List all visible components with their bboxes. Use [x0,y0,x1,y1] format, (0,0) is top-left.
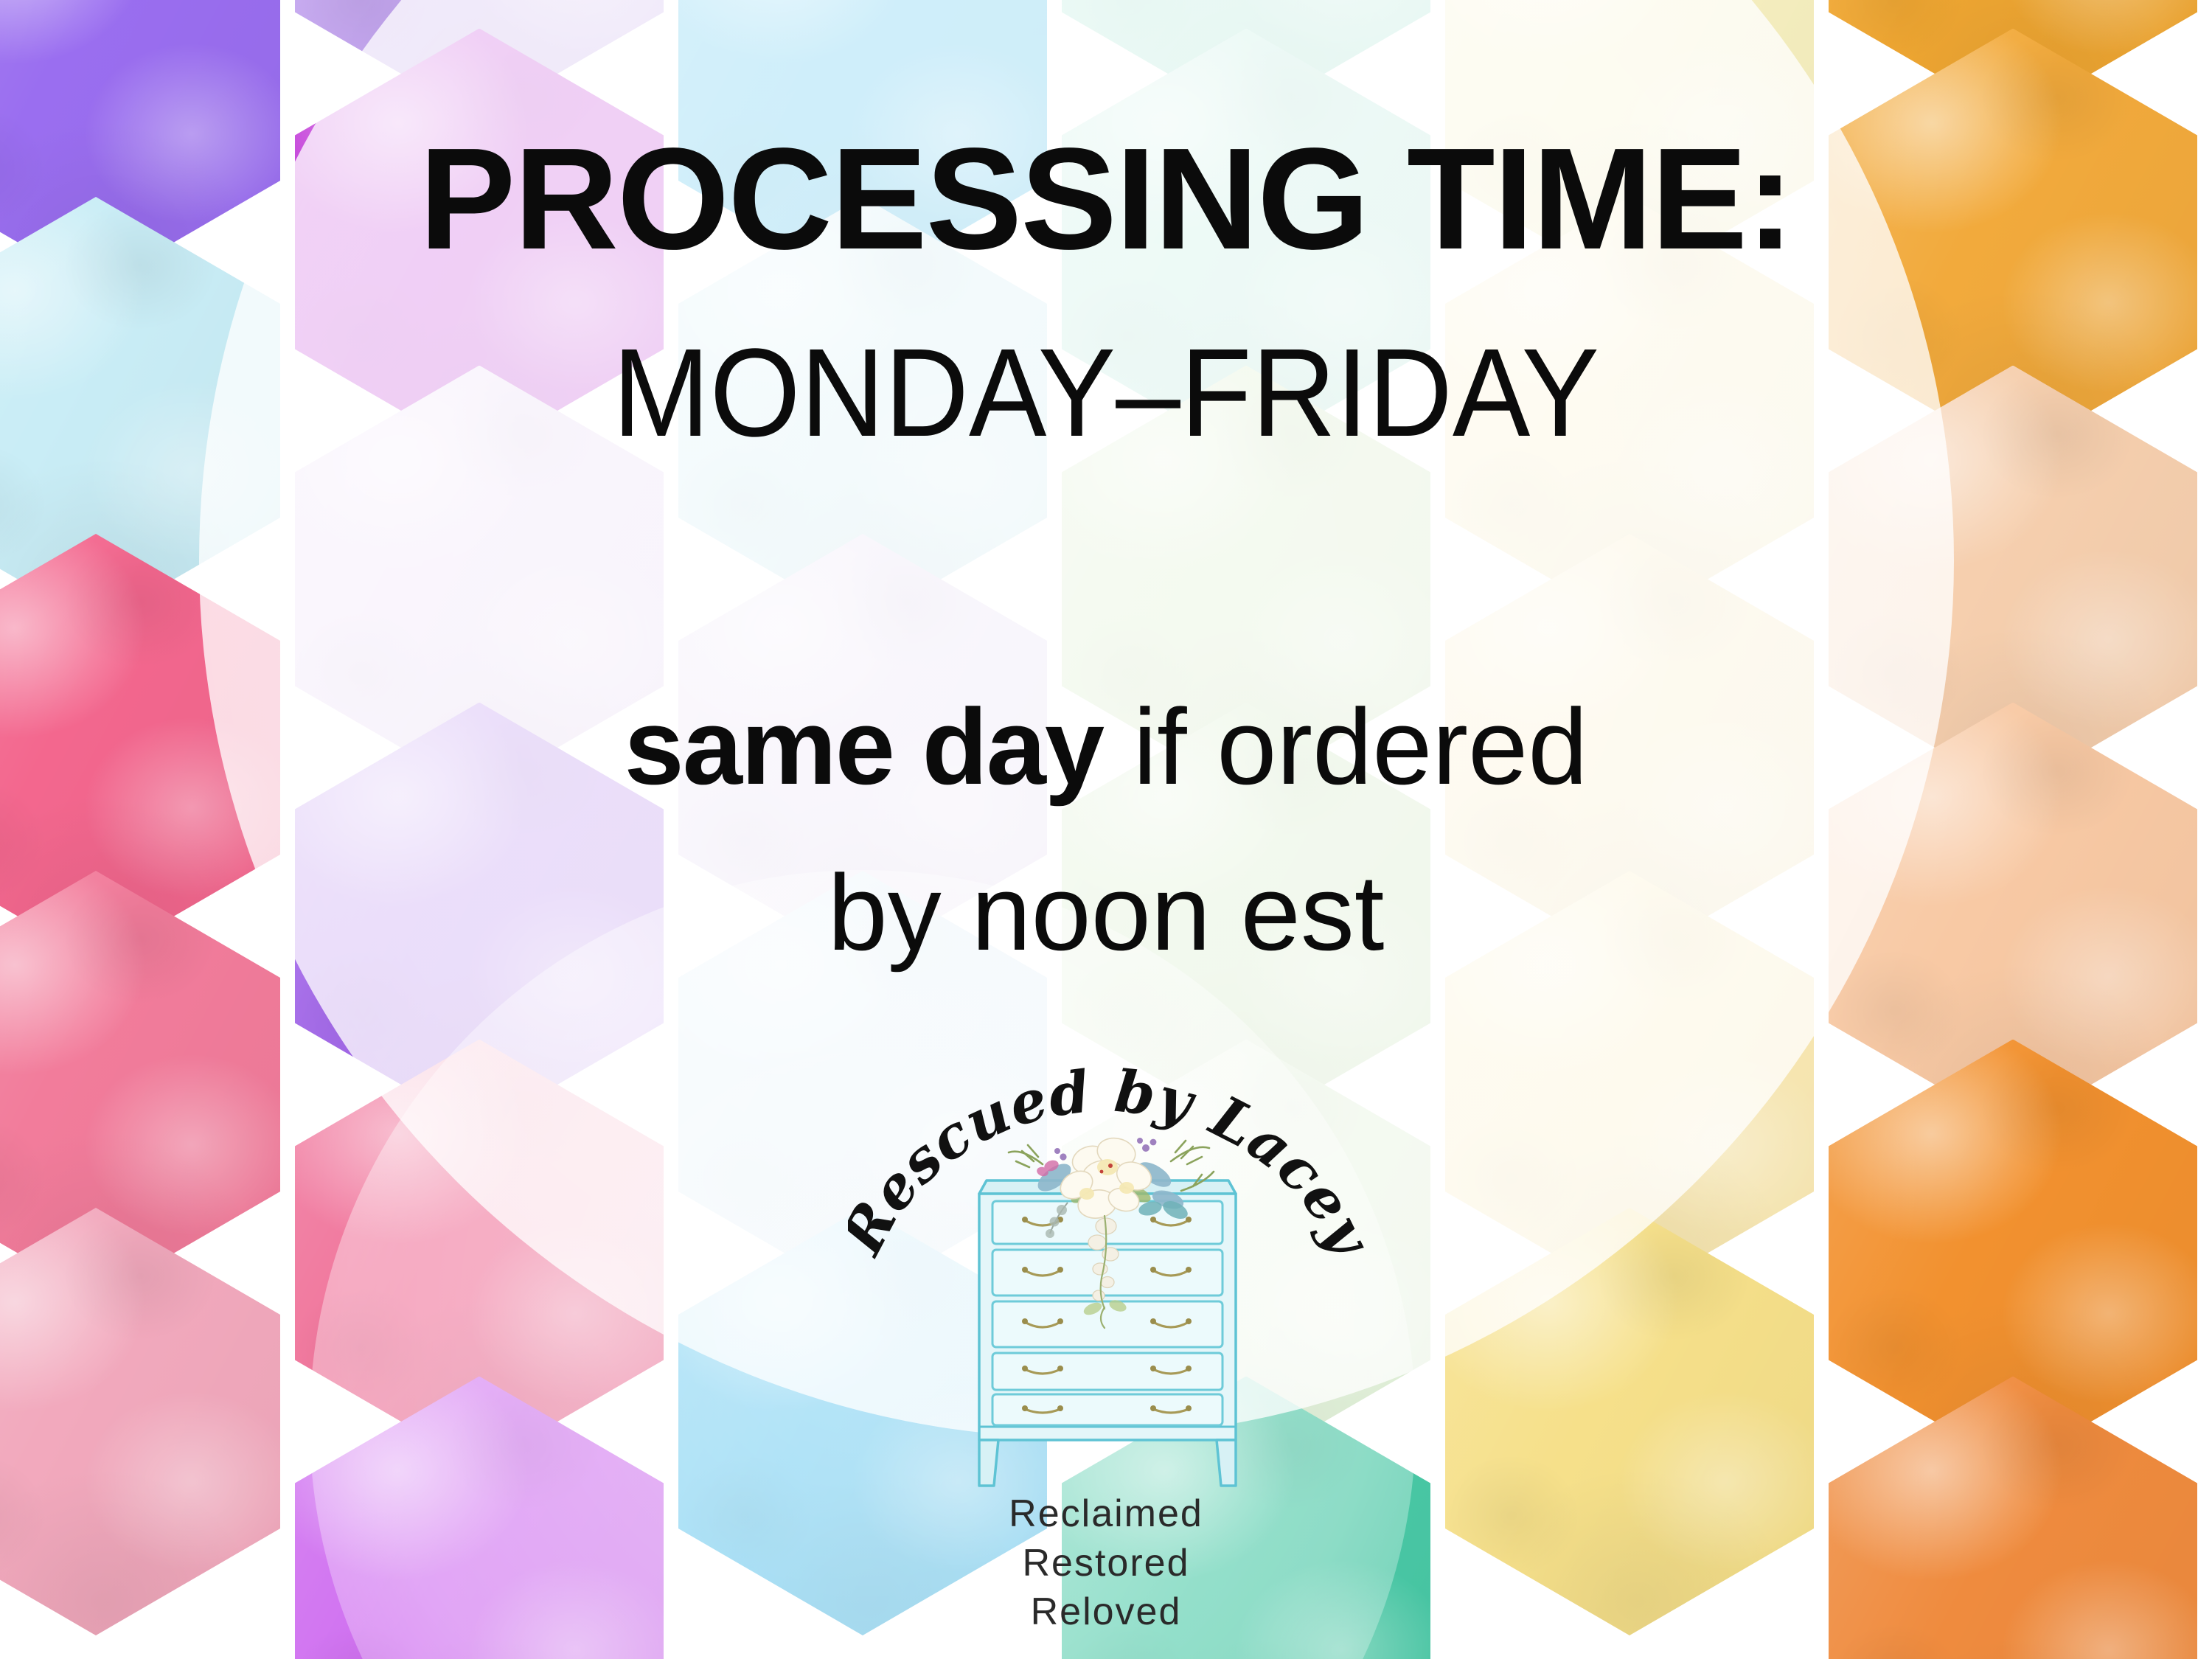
dresser-illustration [960,1123,1255,1499]
brand-logo: Rescued by Lacey [848,1029,1364,1618]
tagline-line-2: Restored [848,1539,1364,1588]
tagline-line-1: Reclaimed [848,1489,1364,1539]
tagline-line-3: Reloved [848,1587,1364,1637]
subtitle-days: MONDAY–FRIDAY [77,330,2135,456]
cutoff-time-line: by noon est [0,859,2212,967]
poster-canvas: PROCESSING TIME: MONDAY–FRIDAY same day … [0,0,2212,1659]
brand-tagline: Reclaimed Restored Reloved [848,1489,1364,1637]
poster-content: PROCESSING TIME: MONDAY–FRIDAY same day … [0,0,2212,1659]
page-title: PROCESSING TIME: [0,127,2212,271]
same-day-emphasis: same day [625,686,1104,807]
same-day-line: same day if ordered [0,693,2212,801]
if-ordered-text: if ordered [1103,686,1587,807]
